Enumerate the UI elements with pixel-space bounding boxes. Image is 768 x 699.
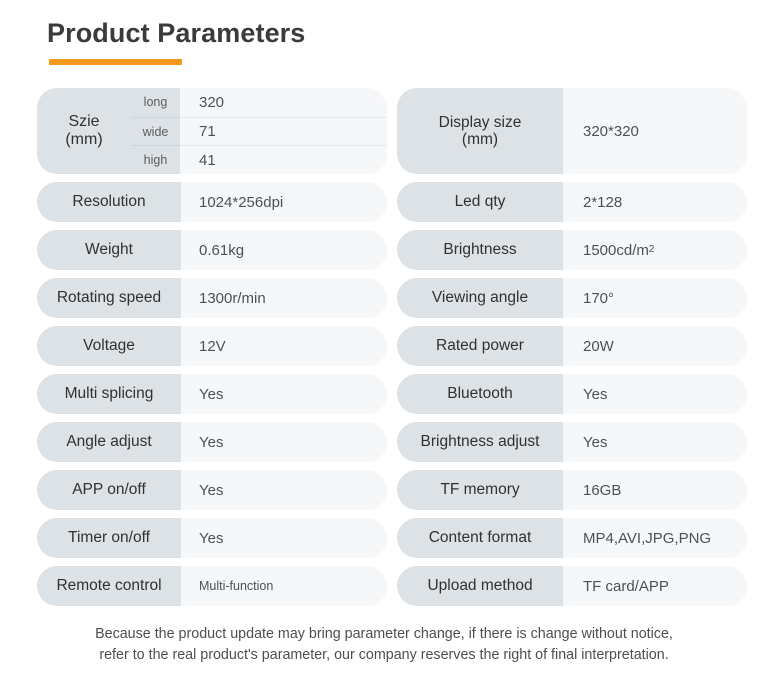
row-label-bluetooth: Bluetooth xyxy=(397,374,563,414)
row-label-weight: Weight xyxy=(37,230,181,270)
page-title-block: Product Parameters xyxy=(47,16,305,65)
row-value-rated-power: 20W xyxy=(563,326,747,366)
table-row: Remote control Multi-function xyxy=(37,566,387,606)
spec-table-left-column: Szie (mm) long 320 wide 71 high xyxy=(37,88,387,606)
subrow-value-long: 320 xyxy=(180,88,387,117)
row-value-resolution: 1024*256dpi xyxy=(181,182,387,222)
row-label-line2: (mm) xyxy=(65,131,102,148)
table-row: Display size (mm) 320*320 xyxy=(397,88,747,174)
table-row: Viewing angle 170° xyxy=(397,278,747,318)
disclaimer-note: Because the product update may bring par… xyxy=(0,624,768,666)
row-value-display-size: 320*320 xyxy=(563,88,747,174)
title-underline-accent xyxy=(49,59,182,65)
table-row: APP on/off Yes xyxy=(37,470,387,510)
row-label-line1: Display size xyxy=(439,114,522,131)
row-label-angle-adjust: Angle adjust xyxy=(37,422,181,462)
table-row: Brightness 1500cd/m2 xyxy=(397,230,747,270)
row-label-multi-splicing: Multi splicing xyxy=(37,374,181,414)
row-label-tf-memory: TF memory xyxy=(397,470,563,510)
page-title: Product Parameters xyxy=(47,16,305,50)
row-value-brightness: 1500cd/m2 xyxy=(563,230,747,270)
row-label-app-on-off: APP on/off xyxy=(37,470,181,510)
row-label-resolution: Resolution xyxy=(37,182,181,222)
row-label-remote-control: Remote control xyxy=(37,566,181,606)
table-row: Resolution 1024*256dpi xyxy=(37,182,387,222)
subrow-label-long: long xyxy=(131,88,180,117)
row-value-tf-memory: 16GB xyxy=(563,470,747,510)
disclaimer-line-1: Because the product update may bring par… xyxy=(22,624,746,645)
row-value-multi-splicing: Yes xyxy=(181,374,387,414)
subrow-label-wide: wide xyxy=(131,117,180,146)
row-label-brightness-adjust: Brightness adjust xyxy=(397,422,563,462)
row-value-voltage: 12V xyxy=(181,326,387,366)
table-row: Angle adjust Yes xyxy=(37,422,387,462)
size-subtable: long 320 wide 71 high 41 xyxy=(131,88,387,174)
row-label-timer-on-off: Timer on/off xyxy=(37,518,181,558)
row-value-brightness-adjust: Yes xyxy=(563,422,747,462)
row-label-display-size: Display size (mm) xyxy=(397,88,563,174)
table-subrow: long 320 xyxy=(131,88,387,117)
row-value-content-format: MP4,AVI,JPG,PNG xyxy=(563,518,747,558)
table-row: Multi splicing Yes xyxy=(37,374,387,414)
row-label-voltage: Voltage xyxy=(37,326,181,366)
row-label-rated-power: Rated power xyxy=(397,326,563,366)
table-row: Szie (mm) long 320 wide 71 high xyxy=(37,88,387,174)
table-row: Led qty 2*128 xyxy=(397,182,747,222)
row-value-viewing-angle: 170° xyxy=(563,278,747,318)
row-value-app-on-off: Yes xyxy=(181,470,387,510)
table-row: Rotating speed 1300r/min xyxy=(37,278,387,318)
table-row: Rated power 20W xyxy=(397,326,747,366)
row-label-size: Szie (mm) xyxy=(37,88,131,174)
row-value-upload-method: TF card/APP xyxy=(563,566,747,606)
table-subrow: high 41 xyxy=(131,145,387,174)
row-label-viewing-angle: Viewing angle xyxy=(397,278,563,318)
disclaimer-line-2: refer to the real product's parameter, o… xyxy=(22,645,746,666)
row-value-remote-control: Multi-function xyxy=(181,566,387,606)
row-label-rotating-speed: Rotating speed xyxy=(37,278,181,318)
table-row: Timer on/off Yes xyxy=(37,518,387,558)
row-value-brightness-text: 1500cd/m xyxy=(583,242,649,259)
row-value-timer-on-off: Yes xyxy=(181,518,387,558)
subrow-value-high: 41 xyxy=(180,145,387,174)
row-value-bluetooth: Yes xyxy=(563,374,747,414)
spec-table: Szie (mm) long 320 wide 71 high xyxy=(37,88,747,606)
row-value-rotating-speed: 1300r/min xyxy=(181,278,387,318)
row-label-line1: Szie xyxy=(68,113,99,130)
table-row: Upload method TF card/APP xyxy=(397,566,747,606)
subrow-label-high: high xyxy=(131,145,180,174)
row-label-brightness: Brightness xyxy=(397,230,563,270)
row-value-weight: 0.61kg xyxy=(181,230,387,270)
spec-table-right-column: Display size (mm) 320*320 Led qty 2*128 … xyxy=(397,88,747,606)
table-row: Weight 0.61kg xyxy=(37,230,387,270)
row-label-led-qty: Led qty xyxy=(397,182,563,222)
row-label-line2: (mm) xyxy=(462,131,498,148)
product-parameters-page: Product Parameters Szie (mm) long 320 xyxy=(0,0,768,699)
row-value-angle-adjust: Yes xyxy=(181,422,387,462)
subrow-value-wide: 71 xyxy=(180,117,387,146)
table-row: Bluetooth Yes xyxy=(397,374,747,414)
table-subrow: wide 71 xyxy=(131,117,387,146)
row-label-upload-method: Upload method xyxy=(397,566,563,606)
row-value-led-qty: 2*128 xyxy=(563,182,747,222)
table-row: Content format MP4,AVI,JPG,PNG xyxy=(397,518,747,558)
row-label-content-format: Content format xyxy=(397,518,563,558)
table-row: TF memory 16GB xyxy=(397,470,747,510)
table-row: Voltage 12V xyxy=(37,326,387,366)
table-row: Brightness adjust Yes xyxy=(397,422,747,462)
